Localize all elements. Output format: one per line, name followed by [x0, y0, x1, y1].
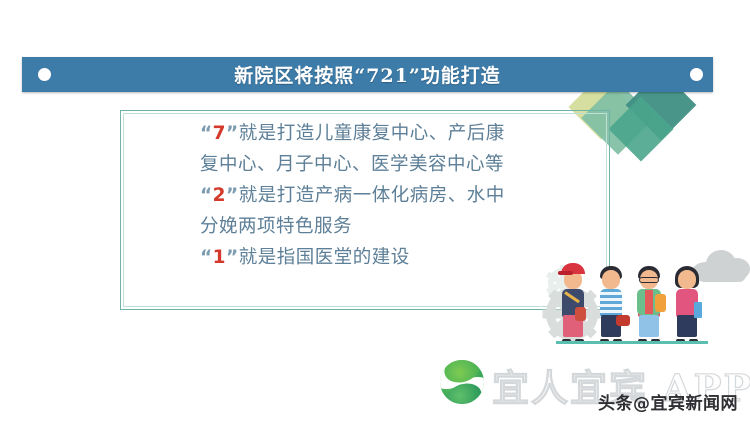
body-line-3: “2”就是打造产病一体化病房、水中 — [200, 180, 600, 211]
body-text-block: “7”就是打造儿童康复中心、产后康 复中心、月子中心、医学美容中心等 “2”就是… — [200, 118, 600, 273]
student-backpack — [655, 294, 666, 312]
student-red-cap-figure — [556, 258, 590, 344]
body-line-3-text: 就是打造产病一体化病房、水中 — [239, 185, 505, 206]
body-line-5: “1”就是指国医堂的建设 — [200, 242, 600, 273]
yibin-app-logo-icon — [440, 360, 484, 404]
body-line-1-text: 就是打造儿童康复中心、产后康 — [239, 123, 505, 144]
student-striped-shirt-figure — [594, 258, 628, 344]
body-line-4: 分娩两项特色服务 — [200, 211, 600, 242]
title-banner: 新院区将按照“721”功能打造 — [22, 57, 713, 92]
student-shirt — [600, 289, 622, 317]
red-cap-brim — [558, 271, 573, 275]
body-line-2-text: 复中心、月子中心、医学美容中心等 — [200, 154, 504, 175]
body-line-4-text: 分娩两项特色服务 — [200, 216, 352, 237]
student-satchel — [575, 307, 586, 321]
student-shirt-inner — [645, 290, 653, 314]
students-illustration — [556, 258, 704, 344]
source-credit-text: 头条@宜宾新闻网 — [598, 389, 738, 414]
body-line-5-text: 就是指国医堂的建设 — [239, 247, 410, 268]
student-girl-figure — [670, 258, 704, 344]
illustration-ground-line — [556, 341, 708, 344]
student-briefcase — [616, 315, 630, 326]
slide-canvas: 新院区将按照“721”功能打造 “7”就是打造儿童康复中心、产后康 复中心、月子… — [0, 0, 750, 422]
quote-open-7: “ — [200, 123, 213, 144]
quote-close-2: ” — [226, 185, 239, 206]
student-book — [694, 302, 702, 318]
student-head — [678, 270, 696, 289]
quote-open-2: “ — [200, 185, 213, 206]
banner-title-text: 新院区将按照“721”功能打造 — [22, 57, 713, 92]
student-head — [602, 270, 620, 289]
quote-close-1: ” — [226, 247, 239, 268]
student-pants — [639, 315, 659, 337]
quote-open-1: “ — [200, 247, 213, 268]
number-1: 1 — [213, 247, 226, 268]
number-2: 2 — [213, 185, 226, 206]
number-7: 7 — [213, 123, 226, 144]
body-line-1: “7”就是打造儿童康复中心、产后康 — [200, 118, 600, 149]
student-pants — [677, 315, 697, 337]
cloud-base — [698, 268, 746, 282]
quote-close-7: ” — [226, 123, 239, 144]
glasses-icon — [639, 277, 659, 283]
student-glasses-figure — [632, 258, 666, 344]
body-line-2: 复中心、月子中心、医学美容中心等 — [200, 149, 600, 180]
